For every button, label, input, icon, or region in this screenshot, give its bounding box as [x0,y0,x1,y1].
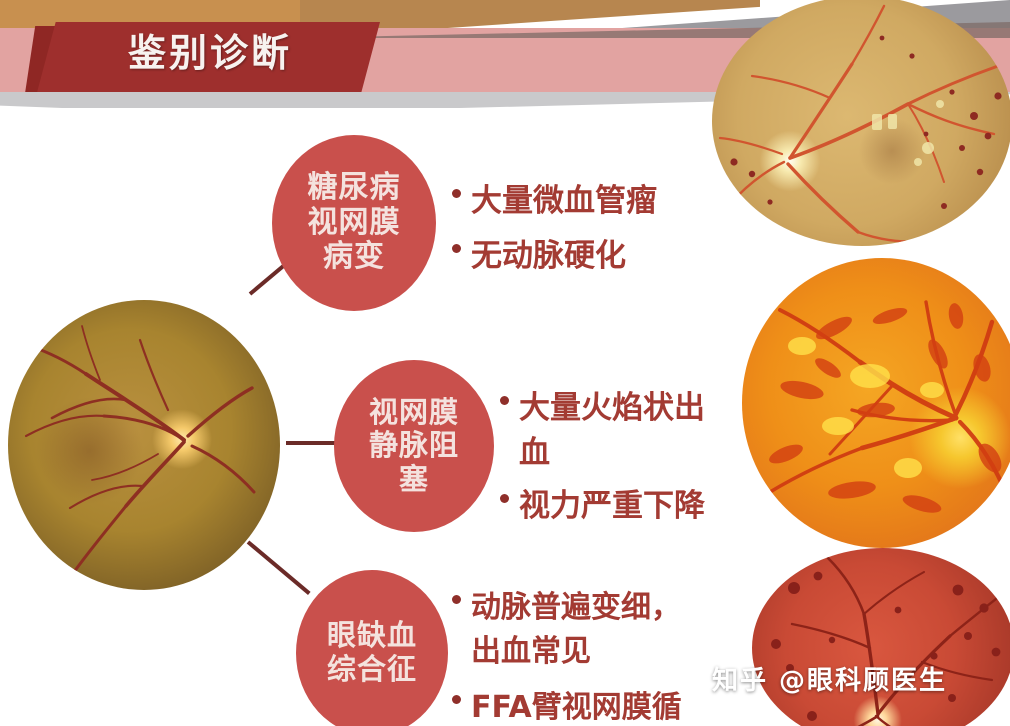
diagnosis-node-retinal-vein-occlusion[interactable]: 视网膜 静脉阻 塞 [334,360,494,532]
bullet-text-line: 动脉普遍变细， [471,590,681,625]
retinal-haemorrhages-crvo [742,258,1010,548]
bullet-text-line: FFA臂视网膜循 [471,690,682,725]
bullet-text: 大量微血管瘤 [471,175,657,220]
diagnosis-node-ocular-ischemic-syndrome[interactable]: 眼缺血 综合征 [296,570,448,726]
node-line: 塞 [399,462,429,496]
fundus-photo-retinal-vein-occlusion [742,258,1010,548]
bullet-group-retinal-vein-occlusion: 大量火焰状出 血 视力严重下降 [500,382,755,525]
node-line: 静脉阻 [369,428,459,462]
diagnosis-node-diabetic-retinopathy[interactable]: 糖尿病 视网膜 病变 [272,135,436,311]
page-title: 鉴别诊断 [128,34,292,72]
node-line: 视网膜 [369,395,459,429]
node-line: 眼缺血 [327,618,417,652]
node-line: 糖尿病 [308,170,401,205]
bullet-text: FFA臂视网膜循 环时间延长 [471,682,682,726]
node-line: 视网膜 [308,205,401,240]
diagnosis-node-label: 视网膜 静脉阻 塞 [355,396,473,497]
fundus-photo-main-left [8,300,280,590]
bullet-text-line: 大量火焰状出 [519,390,705,426]
retinal-vessels-ois [752,548,1010,726]
diagnosis-node-label: 糖尿病 视网膜 病变 [294,171,415,275]
bullet-text-line: 出血常见 [471,634,591,669]
bullet-item: FFA臂视网膜循 环时间延长 [452,682,720,726]
bullet-text: 无动脉硬化 [471,230,626,275]
connector-line-2 [286,441,336,445]
retinal-vessels-main [8,300,280,590]
diagnosis-node-label: 眼缺血 综合征 [313,619,431,686]
bullet-item: 无动脉硬化 [452,230,712,275]
bullet-dot-icon [452,244,461,253]
bullet-group-ocular-ischemic-syndrome: 动脉普遍变细， 出血常见 FFA臂视网膜循 环时间延长 [452,582,720,726]
node-line: 综合征 [327,652,417,686]
fundus-photo-ocular-ischemic-syndrome [752,548,1010,726]
bullet-text: 大量火焰状出 血 [519,382,705,472]
bullet-text: 视力严重下降 [519,480,705,525]
bullet-dot-icon [452,189,461,198]
bullet-item: 大量微血管瘤 [452,175,712,220]
bullet-dot-icon [452,595,461,604]
retinal-vessels-dr [712,0,1010,246]
fundus-photo-diabetic-retinopathy [712,0,1010,246]
bullet-item: 视力严重下降 [500,480,755,525]
bullet-text: 动脉普遍变细， 出血常见 [471,582,681,670]
slide-canvas: 鉴别诊断 [0,0,1010,726]
watermark: 知乎 @眼科顾医生 [712,660,947,697]
bullet-text-line: 血 [519,435,550,471]
bullet-group-diabetic-retinopathy: 大量微血管瘤 无动脉硬化 [452,175,712,275]
bullet-dot-icon [452,695,461,704]
bullet-dot-icon [500,494,509,503]
bullet-dot-icon [500,396,509,405]
node-line: 病变 [323,239,385,274]
bullet-item: 大量火焰状出 血 [500,382,755,472]
bullet-item: 动脉普遍变细， 出血常见 [452,582,720,670]
